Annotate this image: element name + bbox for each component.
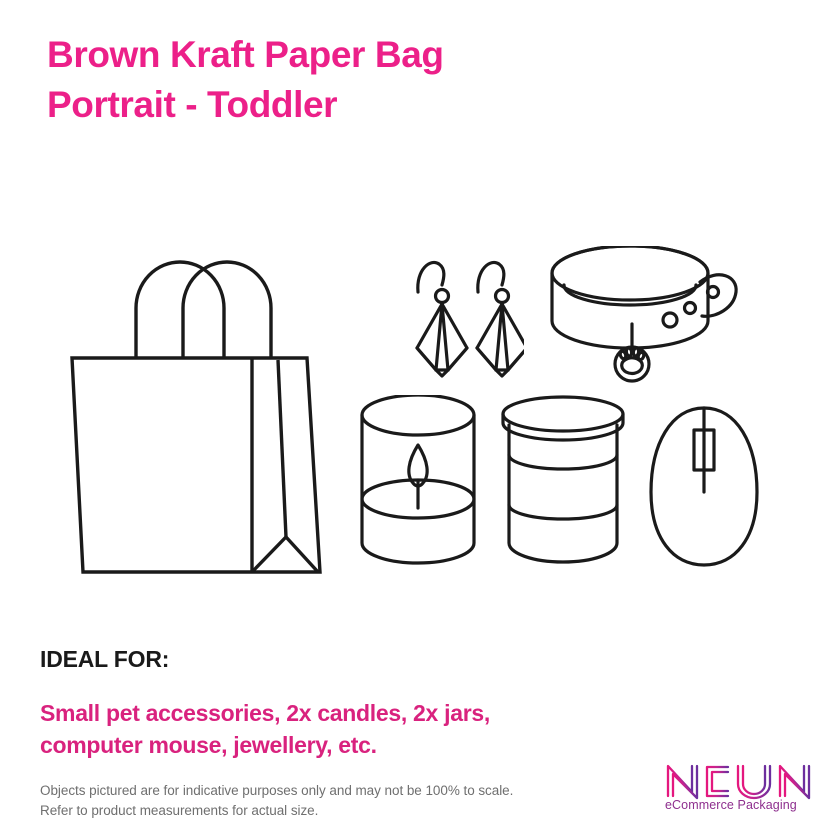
ideal-for-list: Small pet accessories, 2x candles, 2x ja… bbox=[40, 697, 660, 761]
disclaimer-line-1: Objects pictured are for indicative purp… bbox=[40, 781, 640, 801]
page-title: Brown Kraft Paper Bag Portrait - Toddler bbox=[47, 30, 747, 130]
paper-bag-icon bbox=[62, 242, 334, 582]
product-info-card: Brown Kraft Paper Bag Portrait - Toddler bbox=[0, 0, 840, 840]
brand-logo: eCommerce Packaging bbox=[662, 758, 822, 820]
earrings-icon bbox=[406, 248, 524, 388]
computer-mouse-icon bbox=[645, 402, 763, 572]
disclaimer-text: Objects pictured are for indicative purp… bbox=[40, 781, 640, 821]
ideal-for-line-1: Small pet accessories, 2x candles, 2x ja… bbox=[40, 697, 660, 729]
jar-icon bbox=[497, 393, 629, 569]
neon-wordmark-icon bbox=[662, 758, 822, 802]
pet-collar-icon bbox=[540, 246, 740, 406]
ideal-for-heading: IDEAL FOR: bbox=[40, 646, 169, 673]
title-line-1: Brown Kraft Paper Bag bbox=[47, 30, 747, 80]
product-illustration bbox=[0, 230, 840, 600]
title-line-2: Portrait - Toddler bbox=[47, 80, 747, 130]
logo-tagline: eCommerce Packaging bbox=[665, 798, 825, 812]
ideal-for-line-2: computer mouse, jewellery, etc. bbox=[40, 729, 660, 761]
candle-icon bbox=[356, 395, 480, 567]
disclaimer-line-2: Refer to product measurements for actual… bbox=[40, 801, 640, 821]
